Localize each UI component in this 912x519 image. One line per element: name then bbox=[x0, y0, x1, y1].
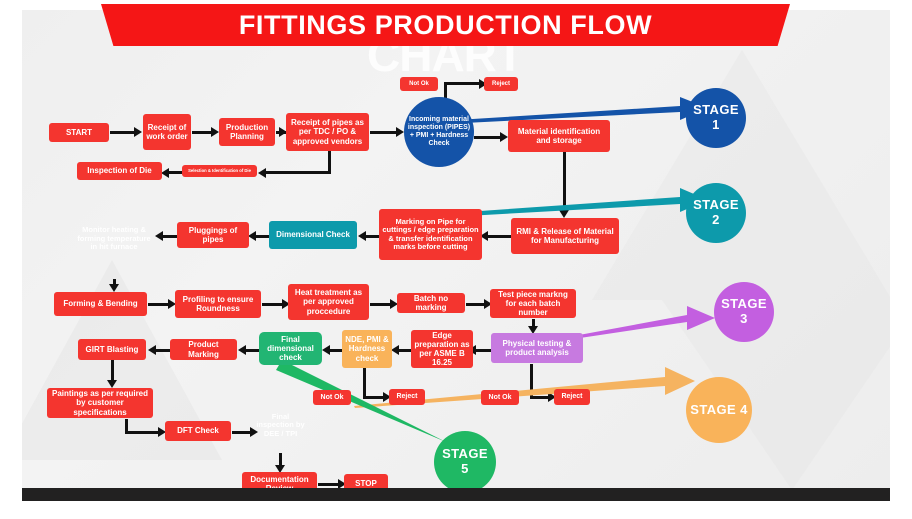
connector-paintings-to-dft bbox=[125, 431, 158, 434]
arrowhead-forming-bending bbox=[109, 284, 119, 292]
watermark-triangle-center bbox=[592, 50, 890, 300]
stage-4-circle[interactable]: STAGE 4 bbox=[686, 377, 752, 443]
connector-incoming-to-materialid bbox=[474, 136, 502, 139]
arrowhead-paintings bbox=[107, 380, 117, 388]
connector-batch-to-testpiece bbox=[466, 303, 484, 306]
title-banner: FITTINGS PRODUCTION FLOW bbox=[101, 4, 790, 46]
arrowhead-incoming bbox=[396, 127, 404, 137]
node-documentation-review[interactable]: Documentation Review bbox=[242, 472, 317, 488]
arrowhead-planning bbox=[211, 127, 219, 137]
connector-receiptpipes-to-incoming bbox=[370, 131, 396, 134]
arrowhead-product-marking bbox=[238, 345, 246, 355]
node-start[interactable]: START bbox=[49, 123, 109, 142]
connector-forming-to-profiling bbox=[148, 303, 168, 306]
node-material-identification[interactable]: Material identification and storage bbox=[508, 120, 610, 152]
connector-pluggings-to-monitor bbox=[161, 235, 178, 238]
arrowhead-pluggings bbox=[248, 231, 256, 241]
node-reject-3[interactable]: Reject bbox=[554, 389, 590, 405]
arrowhead-monitor-heating bbox=[155, 231, 163, 241]
node-heat-treatment[interactable]: Heat treatment as per approved proccedur… bbox=[288, 284, 369, 320]
stage-2-circle[interactable]: STAGE 2 bbox=[686, 183, 746, 243]
bottom-bar bbox=[22, 488, 890, 501]
node-not-ok-1[interactable]: Not Ok bbox=[400, 77, 438, 91]
arrowhead-selection-die bbox=[258, 168, 266, 178]
stage-3-circle[interactable]: STAGE 3 bbox=[714, 282, 774, 342]
node-forming-bending[interactable]: Forming & Bending bbox=[54, 292, 147, 316]
node-incoming-material-inspection[interactable]: Incoming material inspection (PIPES) + P… bbox=[404, 97, 474, 167]
node-pluggings-of-pipes[interactable]: Pluggings of pipes bbox=[177, 222, 249, 248]
node-rmi-release[interactable]: RMI & Release of Material for Manufactur… bbox=[511, 218, 619, 254]
node-batch-no-marking[interactable]: Batch no marking bbox=[397, 293, 465, 313]
node-girt-blasting[interactable]: GIRT Blasting bbox=[78, 339, 146, 360]
node-physical-testing[interactable]: Physical testing & product analysis bbox=[491, 333, 583, 363]
stage-1-circle[interactable]: STAGE 1 bbox=[686, 88, 746, 148]
page-title: FITTINGS PRODUCTION FLOW bbox=[239, 10, 652, 41]
node-nde-pmi-hardness[interactable]: NDE, PMI & Hardness check bbox=[342, 330, 392, 368]
connector-down-to-selection bbox=[265, 171, 331, 174]
arrowhead-nde bbox=[391, 345, 399, 355]
connector-physical-to-edge bbox=[473, 349, 493, 352]
connector-receiptpipes-down bbox=[328, 151, 331, 173]
node-not-ok-2[interactable]: Not Ok bbox=[313, 390, 351, 405]
node-receipt-of-work-order[interactable]: Receipt of work order bbox=[143, 114, 191, 150]
connector-nde-to-finaldim bbox=[328, 349, 343, 352]
connector-up-to-reject1 bbox=[444, 82, 479, 85]
node-reject-1[interactable]: Reject bbox=[484, 77, 518, 91]
node-receipt-of-pipes[interactable]: Receipt of pipes as per TDC / PO & appro… bbox=[286, 113, 369, 151]
connector-start-to-workorder bbox=[110, 131, 134, 134]
arrowhead-workorder bbox=[134, 127, 142, 137]
slide-canvas: CHART START Receipt of work order Produc… bbox=[22, 10, 890, 488]
node-edge-preparation[interactable]: Edge preparation as per ASME B 16.25 bbox=[411, 330, 473, 368]
connector-rmi-to-marking bbox=[486, 235, 512, 238]
node-product-marking[interactable]: Product Marking bbox=[170, 339, 237, 360]
connector-profiling-to-heat bbox=[262, 303, 282, 306]
node-not-ok-3[interactable]: Not Ok bbox=[481, 390, 519, 405]
node-dft-check[interactable]: DFT Check bbox=[165, 421, 231, 441]
connector-workorder-to-planning bbox=[192, 131, 211, 134]
node-stop[interactable]: STOP bbox=[344, 474, 388, 488]
connector-finaldim-to-productmarking bbox=[244, 349, 260, 352]
node-marking-on-pipe[interactable]: Marking on Pipe for cuttings / edge prep… bbox=[379, 209, 482, 260]
node-monitor-heating[interactable]: Monitor heating & forming temperature in… bbox=[74, 199, 154, 279]
node-reject-2[interactable]: Reject bbox=[389, 389, 425, 405]
stage-5-circle[interactable]: STAGE 5 bbox=[434, 431, 496, 488]
stage3-arrow bbox=[577, 305, 717, 339]
connector-dft-to-finalinspection bbox=[232, 431, 250, 434]
node-selection-identification-of-die[interactable]: Selection & Identification of Die bbox=[182, 165, 257, 177]
node-final-dimensional-check[interactable]: Final dimensional check bbox=[259, 332, 322, 365]
node-production-planning[interactable]: Production Planning bbox=[219, 118, 275, 146]
connector-heat-to-batch bbox=[370, 303, 390, 306]
node-paintings[interactable]: Paintings as per required by customer sp… bbox=[47, 388, 153, 418]
node-final-inspection[interactable]: Final inspection by DEE / TPI bbox=[253, 398, 308, 453]
node-dimensional-check[interactable]: Dimensional Check bbox=[269, 221, 357, 249]
node-test-piece-marking[interactable]: Test piece markng for each batch number bbox=[490, 289, 576, 318]
arrowhead-girt-blasting bbox=[148, 345, 156, 355]
node-profiling-roundness[interactable]: Profiling to ensure Roundness bbox=[175, 290, 261, 318]
arrowhead-final-dimensional bbox=[322, 345, 330, 355]
arrowhead-dimensional-check bbox=[358, 231, 366, 241]
arrowhead-materialid bbox=[500, 132, 508, 142]
node-inspection-of-die[interactable]: Inspection of Die bbox=[77, 162, 162, 180]
arrowhead-inspection-die bbox=[161, 168, 169, 178]
